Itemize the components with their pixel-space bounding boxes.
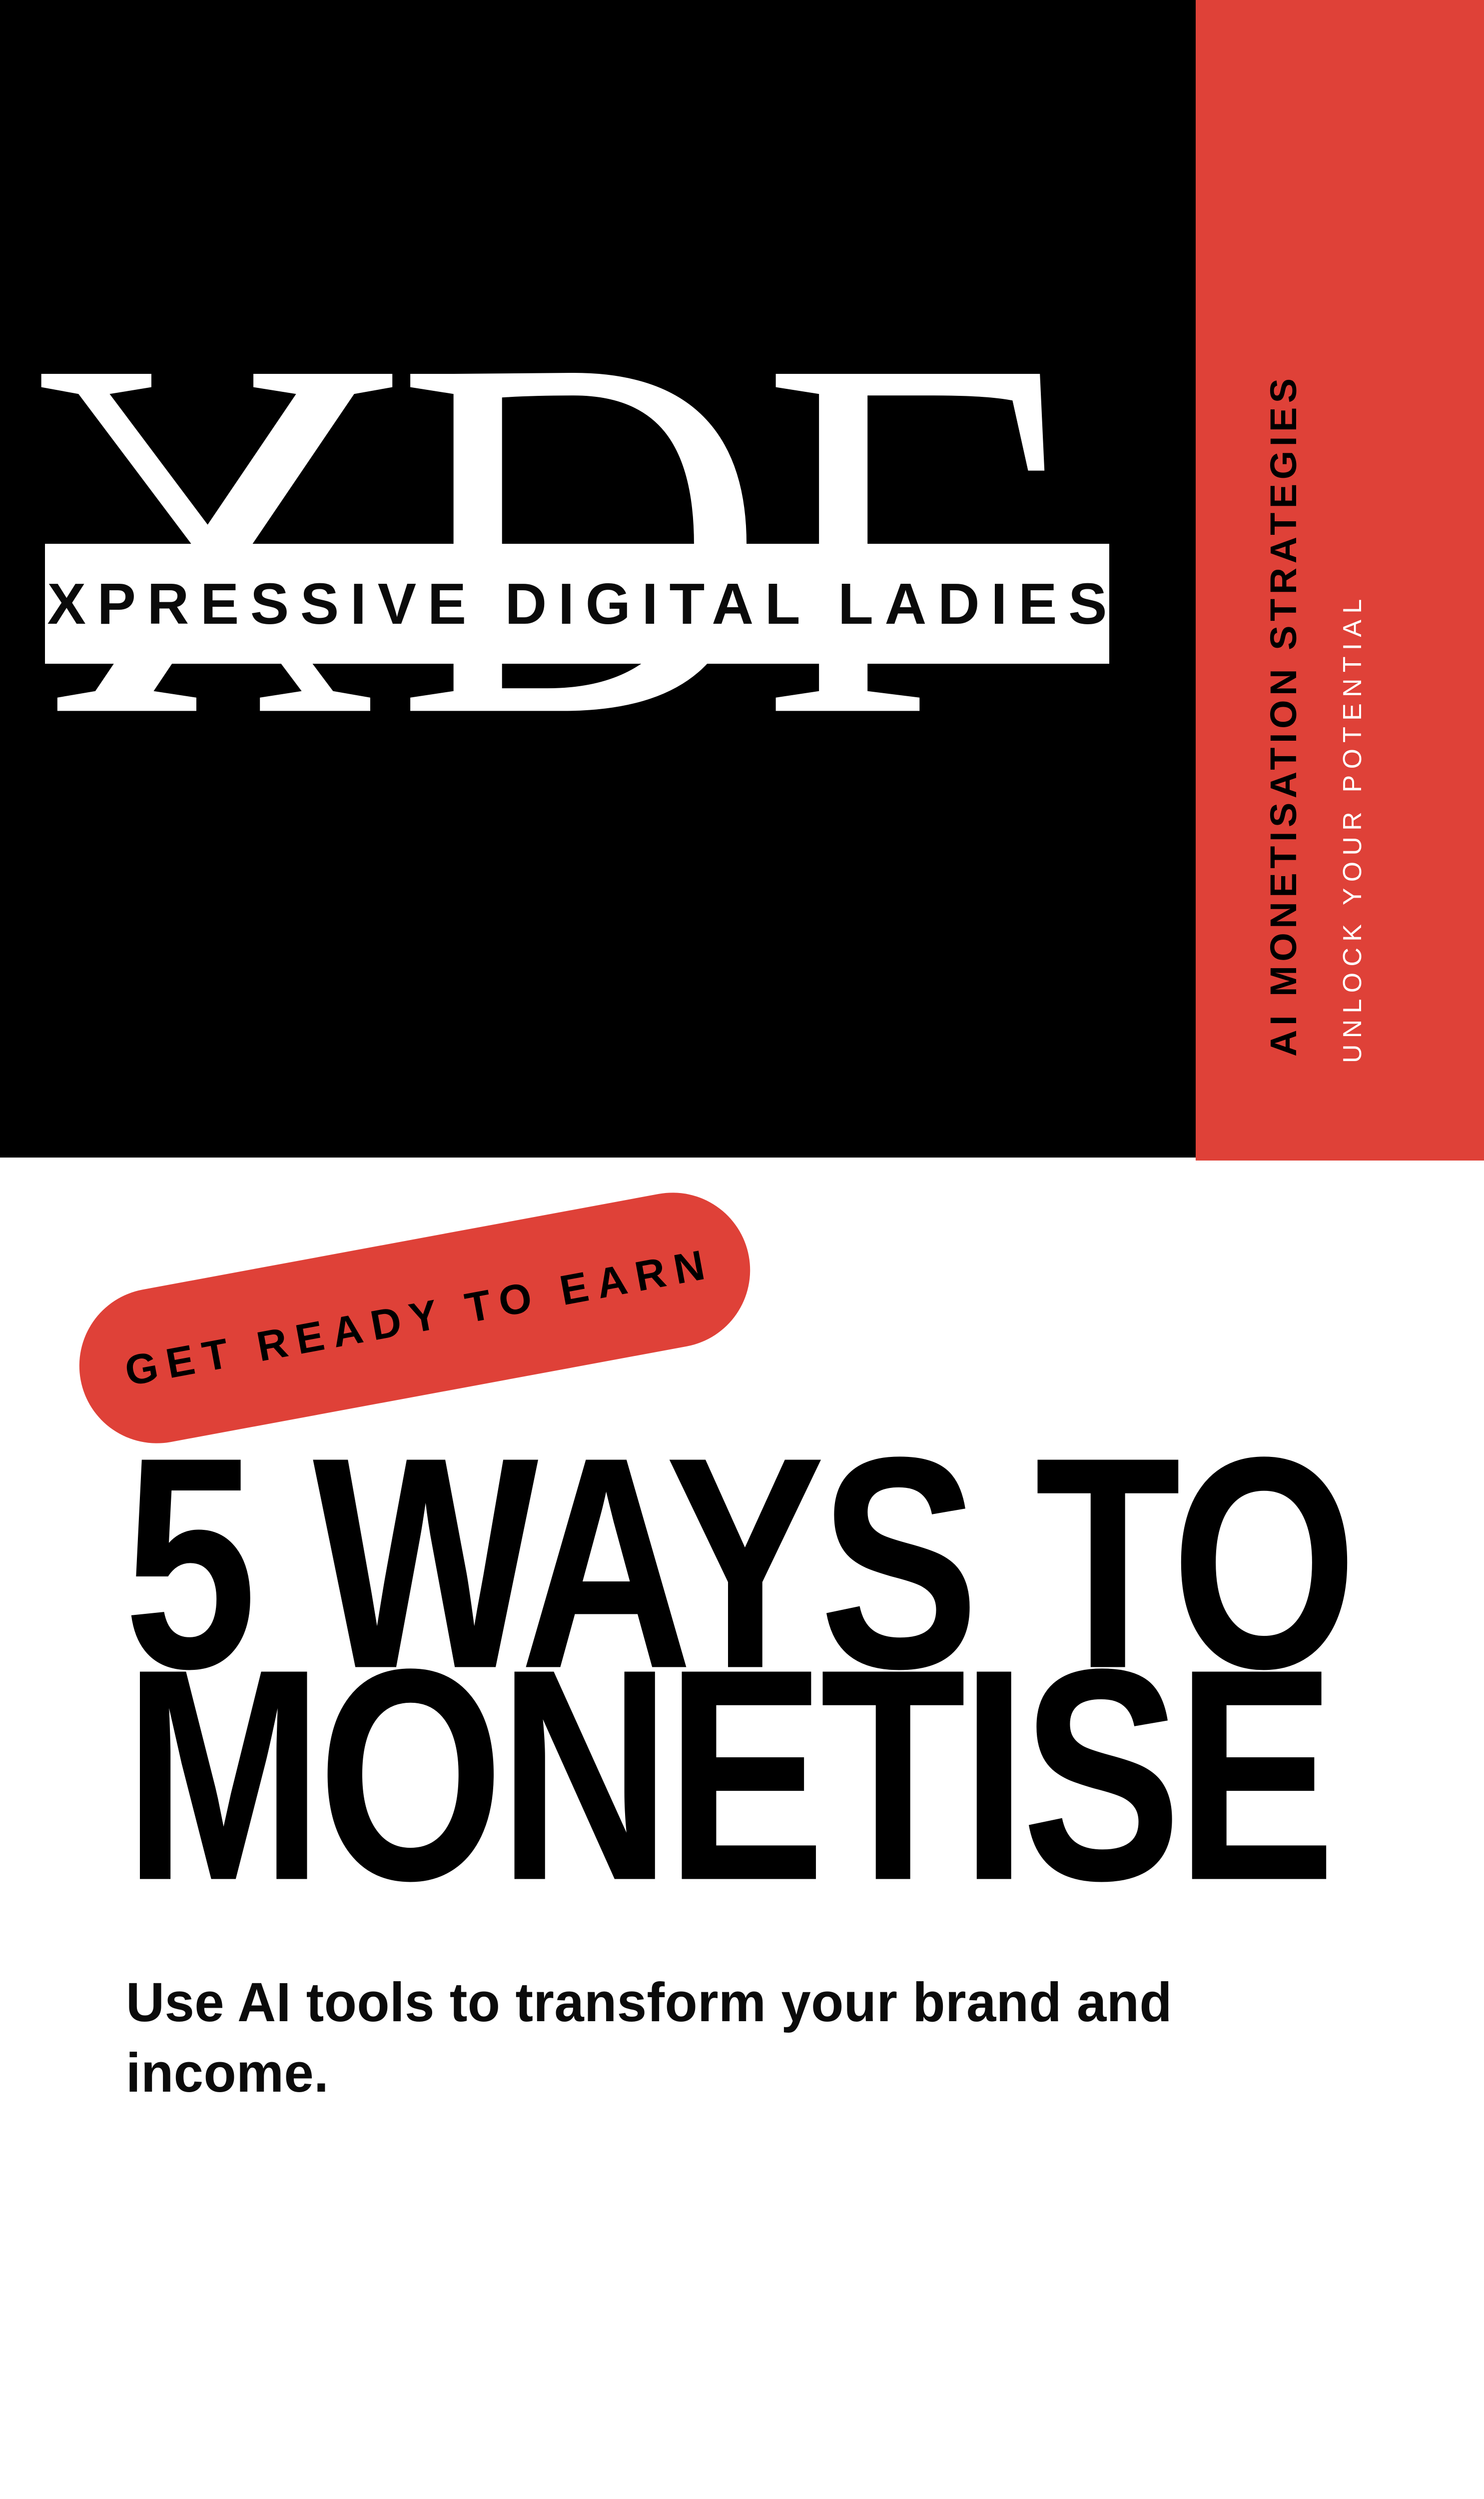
brand-logo: XDL XPRESSIVE DIGITAL LADIES (0, 350, 1196, 840)
logo-wordmark-band: XPRESSIVE DIGITAL LADIES (45, 544, 1109, 664)
hero-black-panel: XDL XPRESSIVE DIGITAL LADIES (0, 0, 1196, 1158)
sidebar-subtitle: UNLOCK YOUR POTENTIAL (1340, 593, 1366, 1063)
lower-content-section: GET READY TO EARN 5 WAYS TO MONETISE Use… (0, 1161, 1484, 2499)
page-title: 5 WAYS TO MONETISE (124, 1440, 1343, 1864)
hero-red-sidebar: AI MONETISATION STRATEGIES UNLOCK YOUR P… (1196, 0, 1484, 1161)
page-subtitle: Use AI tools to transform your brand and… (126, 1968, 1241, 2109)
sidebar-title: AI MONETISATION STRATEGIES (1265, 374, 1302, 1057)
poster-canvas: XDL XPRESSIVE DIGITAL LADIES AI MONETISA… (0, 0, 1484, 2499)
sidebar-vertical-text-group: AI MONETISATION STRATEGIES UNLOCK YOUR P… (1196, 0, 1484, 1161)
logo-wordmark-text: XPRESSIVE DIGITAL LADIES (36, 570, 1118, 637)
headline-line-2: MONETISE (124, 1652, 1246, 1898)
badge-label: GET READY TO EARN (112, 1239, 718, 1397)
